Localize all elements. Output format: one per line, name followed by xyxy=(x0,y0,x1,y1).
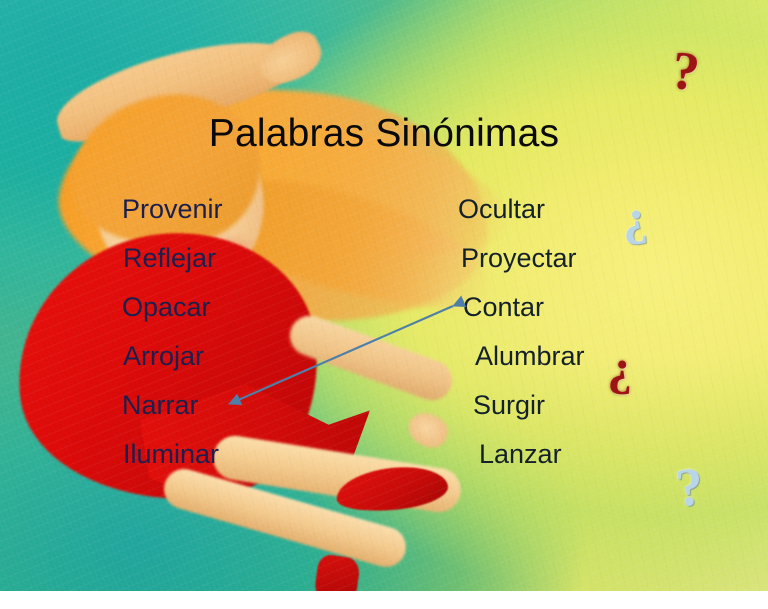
inverted-question-mark-red: ¿ xyxy=(607,342,634,393)
word-contar: Contar xyxy=(463,294,544,321)
word-opacar: Opacar xyxy=(122,294,211,321)
inverted-question-mark-blue: ¿ xyxy=(620,191,648,243)
word-iluminar: Iluminar xyxy=(123,441,219,468)
word-ocultar: Ocultar xyxy=(458,196,545,223)
word-surgir: Surgir xyxy=(473,392,545,419)
word-narrar: Narrar xyxy=(122,392,199,419)
slide-canvas: Palabras Sinónimas ProvenirReflejarOpaca… xyxy=(0,0,768,609)
word-alumbrar: Alumbrar xyxy=(475,343,585,370)
word-reflejar: Reflejar xyxy=(123,245,216,272)
word-proyectar: Proyectar xyxy=(461,245,577,272)
word-provenir: Provenir xyxy=(122,196,223,223)
word-lanzar: Lanzar xyxy=(479,441,562,468)
bottom-white-strip xyxy=(0,591,768,609)
page-title: Palabras Sinónimas xyxy=(0,112,768,156)
question-mark-blue-bottom-right: ? xyxy=(673,459,705,516)
left-word-list: ProvenirReflejarOpacarArrojarNarrarIlumi… xyxy=(122,196,322,486)
word-arrojar: Arrojar xyxy=(123,343,204,370)
